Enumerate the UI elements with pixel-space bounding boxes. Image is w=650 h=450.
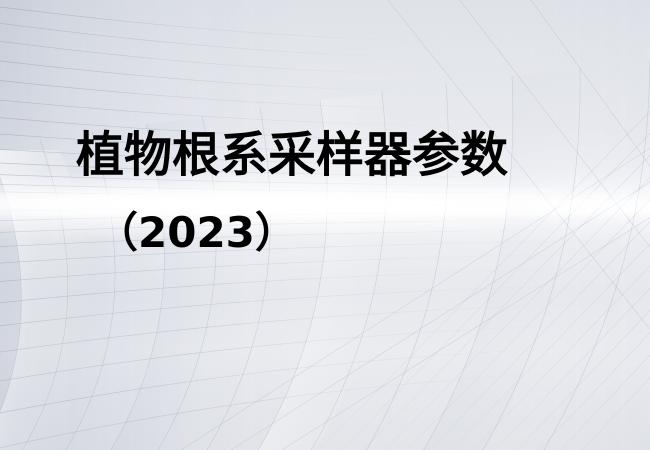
title-slide: 植物根系采样器参数 （2023） xyxy=(0,0,650,450)
slide-title-year: （2023） xyxy=(96,207,297,259)
title-block: 植物根系采样器参数 （2023） xyxy=(0,0,650,450)
slide-title-primary: 植物根系采样器参数 xyxy=(76,126,508,184)
